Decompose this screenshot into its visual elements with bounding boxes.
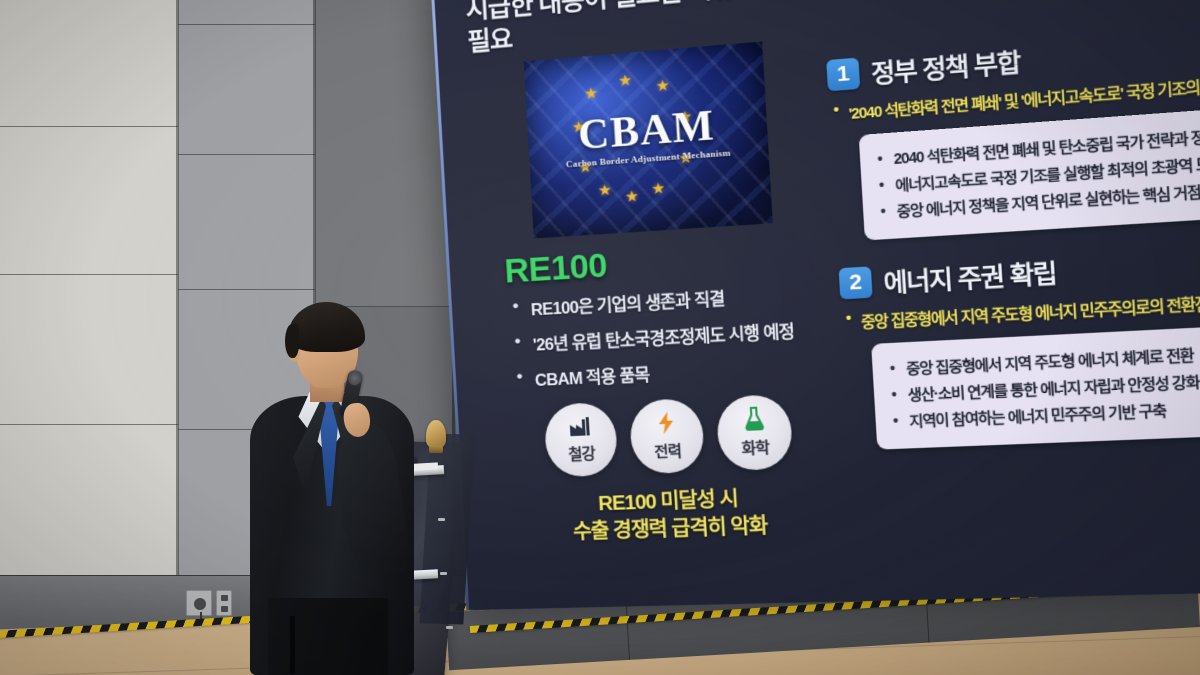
- section-title: 에너지 주권 확립: [883, 252, 1057, 299]
- presenter: [232, 298, 437, 675]
- chip-steel: 철강: [543, 402, 618, 478]
- eu-star-icon: ★: [655, 78, 670, 94]
- presentation-screen: 국가적 정합성과 글로벌 규제 대응 시급한 대응이 필요한 이유 : 글로벌 …: [430, 0, 1200, 610]
- chip-label: 철강: [568, 442, 596, 464]
- lectern-bolt: [446, 626, 453, 629]
- trousers: [268, 598, 388, 675]
- slide-right-column: 1 정부 정책 부합 '2040 석탄화력 전면 폐쇄' 및 '에너지고속도로'…: [826, 21, 1200, 474]
- hair: [288, 302, 365, 352]
- list-item: '26년 유럽 탄소국경조정제도 시행 예정: [512, 316, 832, 357]
- section-1-subbox: 2040 석탄화력 전면 폐쇄 및 탄소중립 국가 전략과 정합 에너지고속도로…: [859, 105, 1200, 241]
- cbam-logo-image: ★ ★ ★ ★ ★ ★ ★ ★ ★ ★ CBAM Carbon Border A…: [524, 41, 773, 238]
- industry-chip-row: 철강 전력: [500, 392, 839, 480]
- slide-left-column: ★ ★ ★ ★ ★ ★ ★ ★ ★ ★ CBAM Carbon Border A…: [475, 37, 844, 549]
- eu-star-icon: ★: [625, 189, 640, 205]
- section-title: 정부 정책 부합: [870, 41, 1021, 90]
- eu-star-icon: ★: [584, 86, 599, 102]
- lightning-icon: [655, 411, 677, 438]
- section-number-badge: 2: [838, 266, 872, 299]
- warning-text: RE100 미달성 시 수출 경쟁력 급격히 악화: [499, 482, 843, 548]
- flask-icon: [743, 406, 765, 435]
- section-2-subbox: 중앙 집중형에서 지역 주도형 에너지 체계로 전환 생산·소비 연계를 통한 …: [871, 323, 1200, 450]
- chip-chemical: 화학: [716, 394, 794, 471]
- eu-star-icon: ★: [651, 181, 666, 197]
- lectern-bolt: [438, 518, 445, 521]
- presentation-room-photo: 국가적 정합성과 글로벌 규제 대응 시급한 대응이 필요한 이유 : 글로벌 …: [0, 0, 1200, 675]
- trouser-seam: [290, 616, 295, 674]
- left-bullet-list: RE100은 기업의 생존과 직결 '26년 유럽 탄소국경조정제도 시행 예정…: [510, 279, 834, 392]
- eu-star-icon: ★: [618, 73, 633, 89]
- chip-label: 화학: [741, 436, 770, 459]
- chip-label: 전력: [654, 439, 682, 462]
- section-2: 2 에너지 주권 확립 중앙 집중형에서 지역 주도형 에너지 민주주의로의 전…: [838, 239, 1200, 451]
- section-number-badge: 1: [826, 57, 860, 91]
- factory-icon: [567, 415, 593, 440]
- chip-power: 전력: [629, 398, 706, 475]
- section-2-header: 2 에너지 주권 확립: [838, 239, 1200, 302]
- list-item: CBAM 적용 품목: [514, 352, 834, 392]
- section-1: 1 정부 정책 부합 '2040 석탄화력 전면 폐쇄' 및 '에너지고속도로'…: [826, 21, 1200, 242]
- lectern-bolt: [440, 572, 447, 575]
- eu-star-icon: ★: [598, 183, 613, 199]
